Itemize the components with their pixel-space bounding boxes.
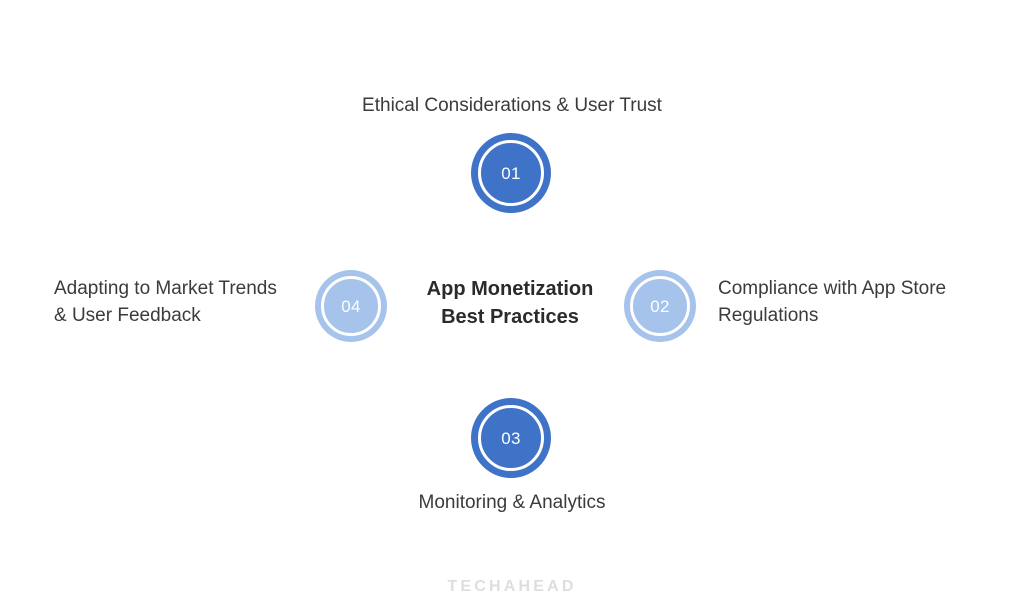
node-number-01: 01 [501,165,521,182]
center-title-line2: Best Practices [392,303,628,331]
node-circle-04[interactable]: 04 [315,270,387,342]
node-number-04: 04 [341,298,361,315]
node-label-04-line2: & User Feedback [54,303,304,330]
node-number-02: 02 [650,298,670,315]
watermark-techahead: TECHAHEAD [0,578,1024,596]
node-label-02-line1: Compliance with App Store [718,276,988,303]
node-circle-02[interactable]: 02 [624,270,696,342]
center-title-line1: App Monetization [392,275,628,303]
diagram-canvas: Ethical Considerations & User Trust 01 A… [0,0,1024,609]
node-number-03: 03 [501,430,521,447]
node-label-04: Adapting to Market Trends & User Feedbac… [54,276,304,330]
node-circle-03[interactable]: 03 [471,398,551,478]
node-label-03-line1: Monitoring & Analytics [419,492,606,513]
node-label-02: Compliance with App Store Regulations [718,276,988,330]
node-label-01-line1: Ethical Considerations & User Trust [362,95,662,116]
node-label-03: Monitoring & Analytics [0,490,1024,517]
center-title: App Monetization Best Practices [392,275,628,332]
node-circle-01[interactable]: 01 [471,133,551,213]
node-label-01: Ethical Considerations & User Trust [0,93,1024,120]
node-label-02-line2: Regulations [718,303,988,330]
node-label-04-line1: Adapting to Market Trends [54,276,304,303]
